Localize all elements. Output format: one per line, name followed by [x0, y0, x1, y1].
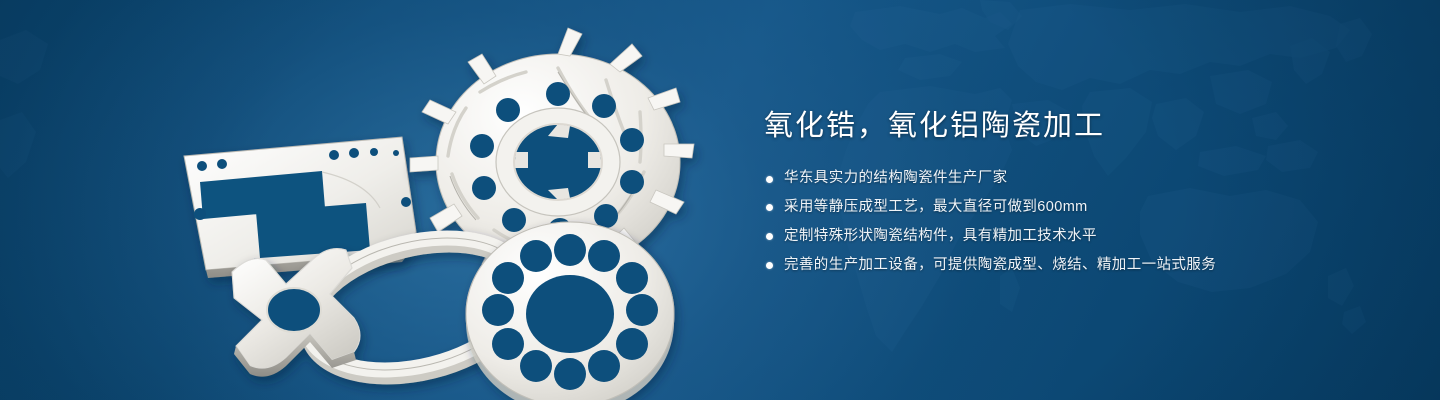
bullet-dot-icon [766, 233, 773, 240]
hero-banner: 氧化锆，氧化铝陶瓷加工 华东具实力的结构陶瓷件生产厂家 采用等静压成型工艺，最大… [0, 0, 1440, 400]
feature-text: 采用等静压成型工艺，最大直径可做到600mm [784, 197, 1088, 219]
bullet-dot-icon [766, 262, 773, 269]
product-photo-group [170, 22, 730, 382]
bullet-dot-icon [766, 176, 773, 183]
feature-text: 完善的生产加工设备，可提供陶瓷成型、烧结、精加工一站式服务 [784, 255, 1216, 277]
list-item: 采用等静压成型工艺，最大直径可做到600mm [766, 197, 1384, 219]
feature-text: 定制特殊形状陶瓷结构件，具有精加工技术水平 [784, 226, 1097, 248]
list-item: 完善的生产加工设备，可提供陶瓷成型、烧结、精加工一站式服务 [766, 255, 1384, 277]
bullet-dot-icon [766, 204, 773, 211]
product-ceramic-valve-plate [466, 222, 674, 400]
banner-copy: 氧化锆，氧化铝陶瓷加工 华东具实力的结构陶瓷件生产厂家 采用等静压成型工艺，最大… [764, 108, 1384, 283]
list-item: 定制特殊形状陶瓷结构件，具有精加工技术水平 [766, 226, 1384, 248]
feature-text: 华东具实力的结构陶瓷件生产厂家 [784, 168, 1008, 190]
list-item: 华东具实力的结构陶瓷件生产厂家 [766, 168, 1384, 190]
banner-headline: 氧化锆，氧化铝陶瓷加工 [764, 108, 1384, 144]
banner-feature-list: 华东具实力的结构陶瓷件生产厂家 采用等静压成型工艺，最大直径可做到600mm 定… [766, 168, 1384, 276]
